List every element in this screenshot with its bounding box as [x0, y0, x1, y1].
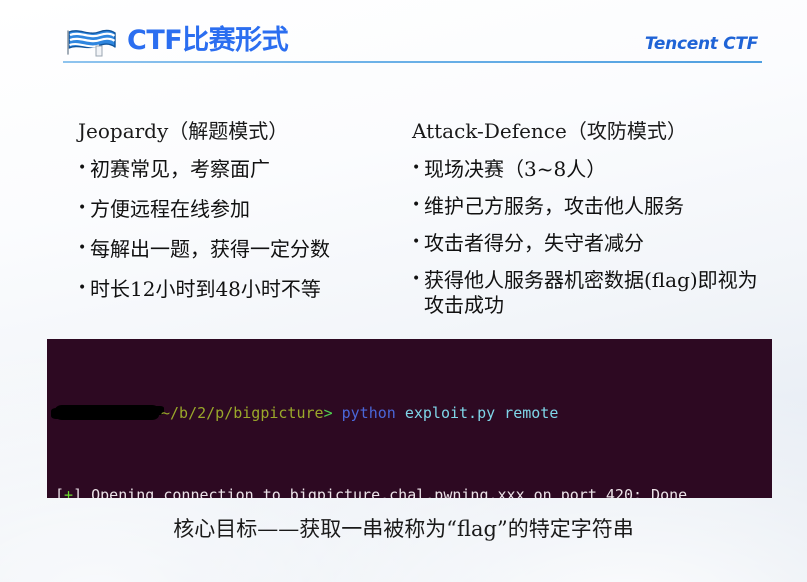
list-item: 每解出一题，获得一定分数: [78, 237, 408, 262]
list-item: 时长12小时到48小时不等: [78, 277, 408, 302]
redaction-block: [55, 405, 159, 420]
status-mark-icon: +: [64, 486, 73, 499]
terminal-command-args: exploit.py remote: [405, 404, 559, 422]
list-item: 维护己方服务，攻击他人服务: [412, 194, 772, 219]
terminal-command-name: python: [342, 404, 396, 422]
page-title: CTF比赛形式: [127, 24, 288, 58]
prompt-arrow-icon: >: [324, 404, 333, 422]
brand-logo: Tencent CTF: [645, 34, 758, 54]
column-jeopardy: Jeopardy（解题模式） 初赛常见，考察面广 方便远程在线参加 每解出一题，…: [78, 118, 408, 317]
jeopardy-heading: Jeopardy（解题模式）: [78, 118, 408, 144]
terminal-line: [+] Opening connection to bigpicture.cha…: [55, 485, 772, 499]
prompt-path: ~/b/2/p/bigpicture: [161, 404, 324, 422]
attack-defence-bullet-list: 现场决赛（3~8人） 维护己方服务，攻击他人服务 攻击者得分，失守者减分 获得他…: [412, 157, 772, 318]
slide-caption: 核心目标——获取一串被称为“flag”的特定字符串: [0, 514, 807, 544]
tag-bracket-open: [: [55, 486, 64, 499]
attack-defence-heading: Attack-Defence（攻防模式）: [412, 118, 772, 144]
jeopardy-bullet-list: 初赛常见，考察面广 方便远程在线参加 每解出一题，获得一定分数 时长12小时到4…: [78, 157, 408, 302]
terminal-line-text: Opening connection to bigpicture.chal.pw…: [82, 486, 687, 499]
column-attack-defence: Attack-Defence（攻防模式） 现场决赛（3~8人） 维护己方服务，攻…: [412, 118, 772, 330]
terminal-window[interactable]: ~/b/2/p/bigpicture> python exploit.py re…: [47, 339, 772, 498]
slide-canvas: CTF比赛形式 Tencent CTF Jeopardy（解题模式） 初赛常见，…: [0, 0, 807, 582]
header-divider: [63, 61, 762, 63]
list-item: 获得他人服务器机密数据(flag)即视为攻击成功: [412, 268, 772, 318]
flag-icon: [63, 27, 119, 62]
list-item: 初赛常见，考察面广: [78, 157, 408, 182]
terminal-command-line: ~/b/2/p/bigpicture> python exploit.py re…: [55, 403, 772, 424]
tag-bracket-close: ]: [73, 486, 82, 499]
terminal-output: ~/b/2/p/bigpicture> python exploit.py re…: [55, 341, 772, 498]
slide-header: CTF比赛形式 Tencent CTF: [0, 10, 807, 60]
list-item: 现场决赛（3~8人）: [412, 157, 772, 182]
list-item: 方便远程在线参加: [78, 197, 408, 222]
list-item: 攻击者得分，失守者减分: [412, 231, 772, 256]
